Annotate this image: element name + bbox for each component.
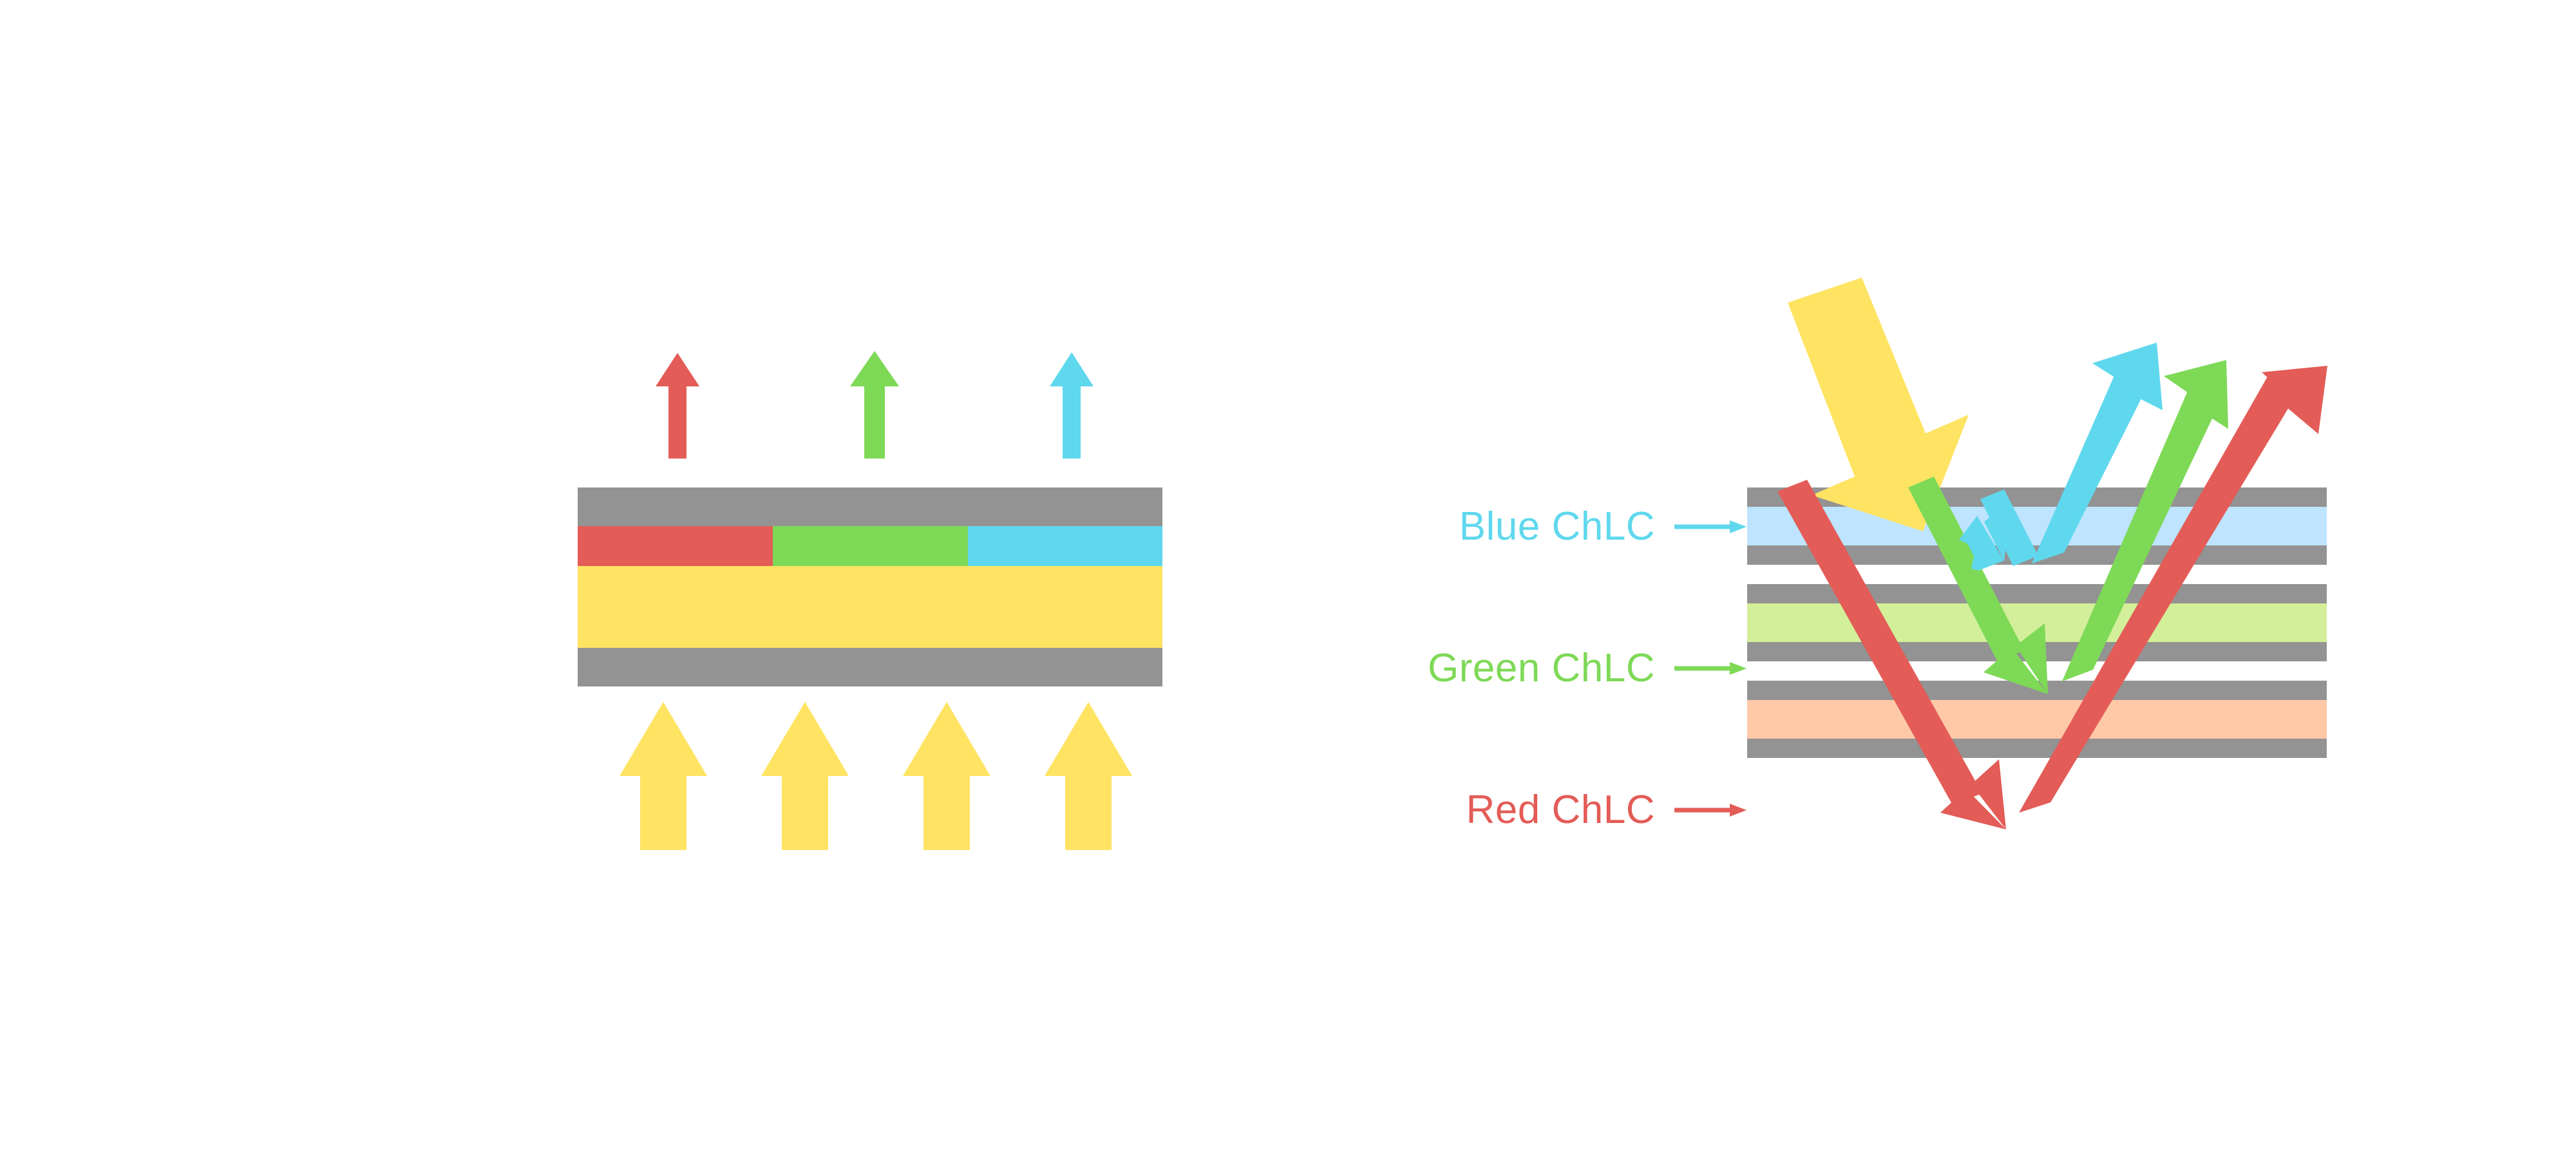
red-chlc-layer	[1747, 700, 2327, 739]
red-chlc-label: Red ChLC	[1466, 788, 1655, 832]
red-output-arrow	[656, 353, 699, 459]
diagram-canvas: Blue ChLC Green ChLC Red ChLC	[0, 0, 2576, 1154]
top-electrode	[578, 487, 1162, 526]
backlight-arrow-2	[761, 702, 849, 850]
left-stack	[578, 487, 1162, 686]
backlight-arrow-4	[1045, 702, 1132, 850]
red-chlc-pointer-arrow-icon	[1674, 804, 1747, 817]
chlc-display-diagram: Blue ChLC Green ChLC Red ChLC	[0, 0, 2576, 1154]
blue-chlc-pointer-arrow-icon	[1674, 520, 1747, 533]
red-filter	[578, 526, 773, 566]
green-chlc-label: Green ChLC	[1428, 646, 1655, 690]
blue-filter	[968, 526, 1162, 566]
right-panel-labels: Blue ChLC Green ChLC Red ChLC	[1428, 504, 1747, 832]
right-stack	[1747, 487, 2327, 758]
left-panel-group	[578, 351, 1162, 850]
green-chlc-pointer-arrow-icon	[1674, 662, 1747, 675]
left-backlight-arrows	[620, 702, 1132, 850]
green-filter	[773, 526, 968, 566]
right-panel-group: Blue ChLC Green ChLC Red ChLC	[1428, 278, 2327, 832]
backlight-arrow-1	[620, 702, 707, 850]
red-bottom-electrode	[1747, 739, 2327, 758]
blue-output-arrow	[1050, 352, 1094, 459]
backlight-arrow-3	[903, 702, 990, 850]
backlight-layer	[578, 566, 1162, 648]
left-output-arrows	[656, 351, 1094, 459]
green-output-arrow	[850, 351, 899, 459]
bottom-electrode	[578, 648, 1162, 686]
blue-chlc-label: Blue ChLC	[1459, 504, 1655, 549]
